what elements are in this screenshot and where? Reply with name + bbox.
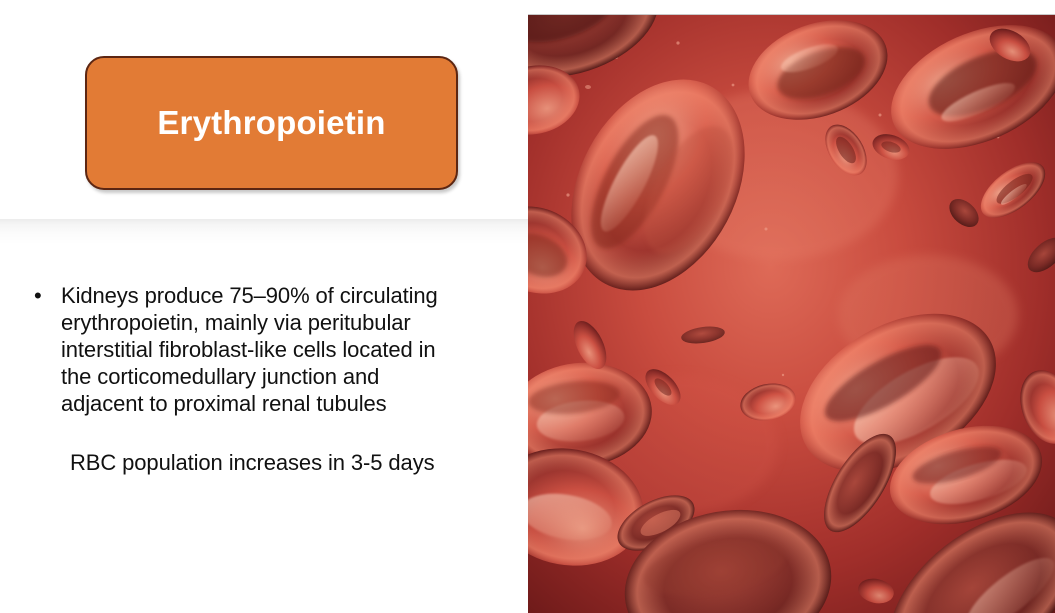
rbc-scene	[528, 15, 1055, 613]
section-divider-shadow	[0, 219, 528, 245]
bullet-item: • Kidneys produce 75–90% of circulating …	[0, 282, 500, 417]
left-content-panel: Erythropoietin • Kidneys produce 75–90% …	[0, 0, 528, 613]
page-title: Erythropoietin	[157, 105, 385, 141]
supporting-note-text: RBC population increases in 3-5 days	[70, 449, 470, 476]
bullet-marker-icon: •	[34, 282, 61, 309]
bullet-item-text: Kidneys produce 75–90% of circulating er…	[61, 282, 451, 417]
rbc-illustration-icon	[528, 15, 1055, 613]
red-blood-cells-image	[528, 15, 1055, 613]
slide-canvas: Erythropoietin • Kidneys produce 75–90% …	[0, 0, 1055, 613]
title-callout-box[interactable]: Erythropoietin	[85, 56, 458, 190]
body-text-block: • Kidneys produce 75–90% of circulating …	[0, 282, 500, 476]
